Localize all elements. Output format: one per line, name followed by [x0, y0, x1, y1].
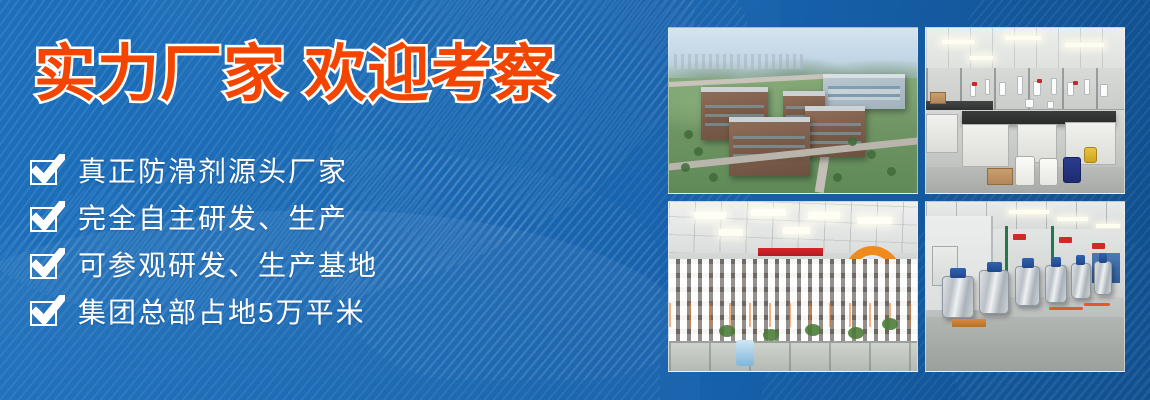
photo-campus-aerial — [668, 27, 918, 194]
list-item: 可参观研发、生产基地 — [30, 242, 378, 289]
checkbox-checked-icon — [30, 251, 62, 281]
checkbox-checked-icon — [30, 157, 62, 187]
feature-list: 真正防滑剂源头厂家 完全自主研发、生产 可参观研发、 — [30, 148, 378, 336]
photo-grid — [668, 27, 1125, 372]
page-title: 实力厂家 欢迎考察 — [34, 44, 556, 106]
list-item-label: 真正防滑剂源头厂家 — [78, 158, 348, 186]
photo-factory-tanks — [925, 201, 1125, 372]
list-item: 真正防滑剂源头厂家 — [30, 148, 378, 195]
list-item-label: 完全自主研发、生产 — [78, 205, 348, 233]
checkbox-checked-icon — [30, 204, 62, 234]
list-item-label: 集团总部占地5万平米 — [78, 299, 366, 327]
checkbox-checked-icon — [30, 298, 62, 328]
list-item-label: 可参观研发、生产基地 — [78, 252, 378, 280]
promo-banner: 实力厂家 欢迎考察 真正防滑剂源头厂家 完全自主研发 — [0, 0, 1150, 400]
text-panel: 实力厂家 欢迎考察 真正防滑剂源头厂家 完全自主研发 — [0, 0, 660, 400]
photo-staff-assembly — [668, 201, 918, 372]
list-item: 集团总部占地5万平米 — [30, 289, 378, 336]
list-item: 完全自主研发、生产 — [30, 195, 378, 242]
photo-laboratory — [925, 27, 1125, 194]
